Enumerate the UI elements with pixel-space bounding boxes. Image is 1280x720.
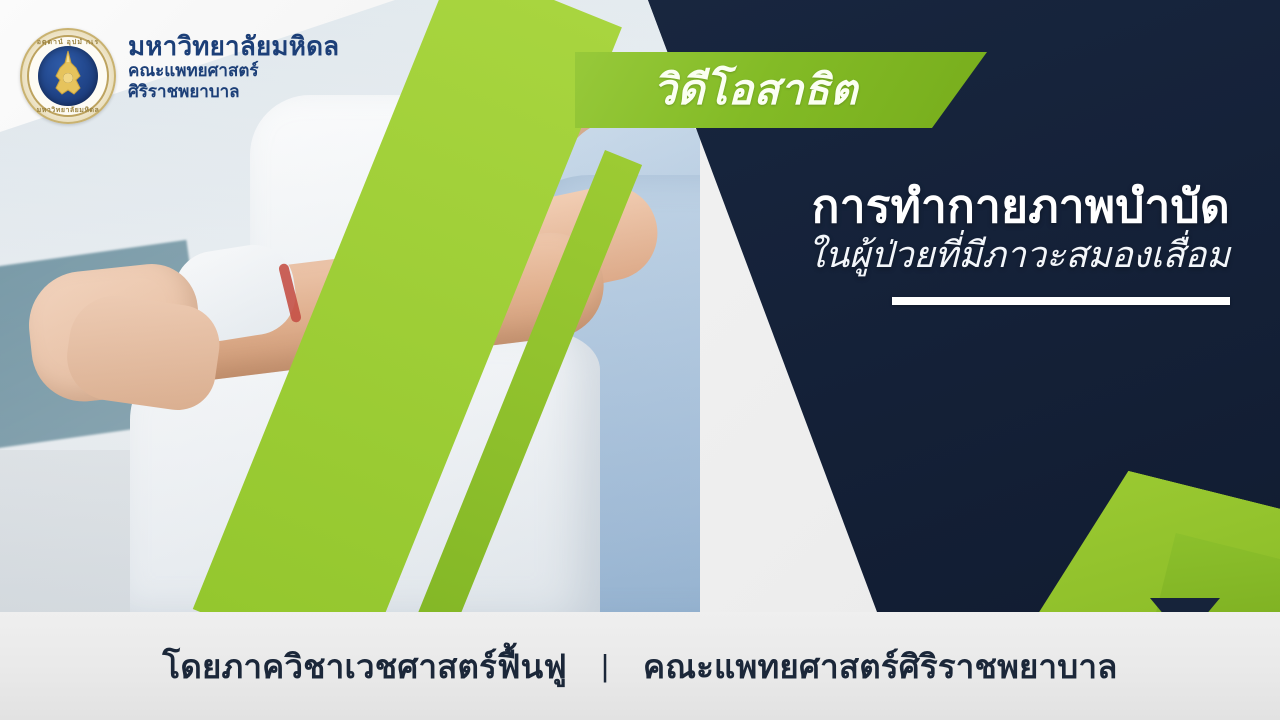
page-title: การทำกายภาพบำบัด	[710, 182, 1230, 232]
seal-bottom-text: มหาวิทยาลัยมหิดล	[22, 105, 114, 116]
institution-logo: อตฺตานํ อุปมํ กเร มหาวิทยาลัยมหิดล มหาวิ…	[20, 28, 339, 124]
footer-faculty: คณะแพทยศาสตร์ศิริราชพยาบาล	[643, 640, 1118, 693]
video-type-banner: วิดีโอสาธิต	[575, 52, 987, 128]
logo-faculty-name: คณะแพทยศาสตร์	[128, 61, 339, 82]
logo-university-name: มหาวิทยาลัยมหิดล	[128, 32, 339, 61]
seal-crown-icon	[46, 50, 90, 102]
video-type-label: วิดีโอสาธิต	[653, 69, 858, 111]
page-subtitle: ในผู้ป่วยที่มีภาวะสมองเสื่อม	[710, 234, 1230, 275]
footer-separator: |	[601, 648, 609, 684]
logo-hospital-name: ศิริราชพยาบาล	[128, 82, 339, 103]
logo-text-block: มหาวิทยาลัยมหิดล คณะแพทยศาสตร์ ศิริราชพย…	[128, 28, 339, 103]
video-title-slide: วิดีโอสาธิต การทำกายภาพบำบัด ในผู้ป่วยที…	[0, 0, 1280, 720]
title-block: การทำกายภาพบำบัด ในผู้ป่วยที่มีภาวะสมองเ…	[710, 182, 1230, 305]
footer-bar: โดยภาควิชาเวชศาสตร์ฟื้นฟู | คณะแพทยศาสตร…	[0, 612, 1280, 720]
footer-department: โดยภาควิชาเวชศาสตร์ฟื้นฟู	[162, 640, 567, 693]
mahidol-seal-icon: อตฺตานํ อุปมํ กเร มหาวิทยาลัยมหิดล	[20, 28, 116, 124]
title-underline	[892, 297, 1230, 305]
